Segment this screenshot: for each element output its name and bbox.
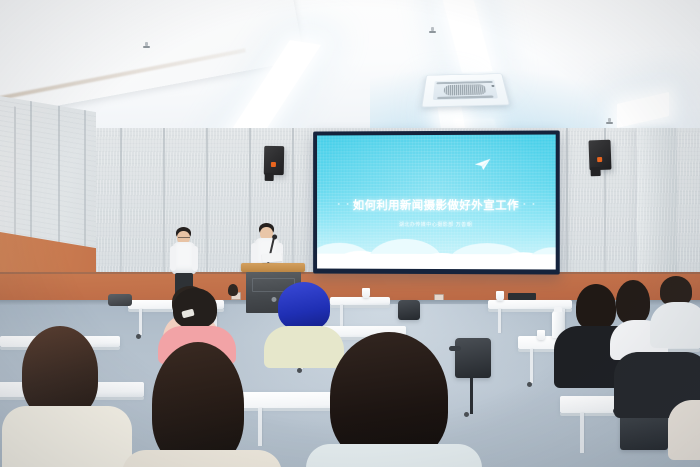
paper-cup bbox=[537, 330, 545, 340]
audience-shoulders bbox=[122, 450, 282, 467]
desk-leg bbox=[498, 309, 501, 333]
glasses-icon bbox=[178, 237, 190, 240]
jbl-logo-icon bbox=[271, 162, 276, 167]
audience-shoulders bbox=[650, 302, 700, 348]
audience-hair-blue bbox=[278, 282, 330, 330]
audience-hair bbox=[330, 332, 448, 462]
laptop bbox=[508, 293, 536, 300]
wall-speaker-right bbox=[588, 140, 611, 171]
audience-hair bbox=[228, 284, 238, 296]
ac-cassette-unit bbox=[421, 73, 510, 107]
jbl-logo-icon bbox=[597, 157, 602, 162]
chair-armrest bbox=[449, 346, 461, 351]
desk-edge bbox=[330, 305, 390, 308]
desk-caster bbox=[297, 368, 302, 373]
slide-cloud-graphic bbox=[317, 225, 556, 270]
desk-leg bbox=[580, 413, 584, 453]
handbag bbox=[108, 294, 132, 306]
sprinkler-head-icon bbox=[143, 42, 150, 50]
presenter-arm bbox=[192, 246, 198, 271]
paper-cup bbox=[496, 291, 504, 301]
projected-slide: 如何利用新闻摄影做好外宣工作 湖北办传媒中心摄影部 万善朝 bbox=[317, 134, 556, 269]
presenter-arm bbox=[251, 243, 257, 265]
audience-shoulders bbox=[668, 400, 700, 460]
desk-caster bbox=[527, 382, 532, 387]
chair bbox=[455, 338, 491, 378]
paper-plane-icon bbox=[474, 158, 491, 171]
audience-hair bbox=[616, 280, 650, 324]
desk-leg bbox=[340, 305, 343, 327]
chair-stem bbox=[470, 378, 473, 414]
audience-hair bbox=[173, 288, 217, 328]
speaker-bracket bbox=[590, 167, 600, 176]
wall-speaker-left bbox=[264, 146, 285, 175]
chair bbox=[398, 300, 420, 320]
ac-sensor-icon bbox=[491, 85, 494, 87]
audience-hair bbox=[576, 284, 616, 330]
speaker-bracket bbox=[265, 173, 274, 181]
sprinkler-head-icon bbox=[606, 118, 613, 126]
presenter-arm bbox=[170, 246, 176, 271]
audience-shoulders bbox=[264, 326, 344, 368]
thermos-cap bbox=[554, 307, 562, 312]
podium-knob bbox=[271, 297, 276, 302]
desk-leg bbox=[139, 309, 142, 335]
chair-caster bbox=[464, 412, 469, 417]
desk bbox=[330, 297, 390, 305]
classroom-photo: 如何利用新闻摄影做好外宣工作 湖北办传媒中心摄影部 万善朝 bbox=[0, 0, 700, 467]
desk-caster bbox=[136, 334, 141, 339]
slide-title: 如何利用新闻摄影做好外宣工作 bbox=[317, 197, 556, 213]
audience-hair bbox=[152, 342, 244, 467]
desk-leg bbox=[258, 408, 262, 446]
projection-screen: 如何利用新闻摄影做好外宣工作 湖北办传媒中心摄影部 万善朝 bbox=[313, 130, 560, 274]
paper-cup bbox=[362, 288, 370, 298]
cloud-base bbox=[317, 254, 556, 270]
audience-hair bbox=[22, 326, 98, 418]
podium-top bbox=[241, 263, 305, 272]
podium-papers bbox=[262, 252, 283, 262]
desk-leg bbox=[530, 349, 533, 383]
ac-grille bbox=[444, 84, 487, 96]
sprinkler-head-icon bbox=[429, 27, 436, 35]
audience-shoulders bbox=[306, 444, 482, 467]
audience-shoulders bbox=[2, 406, 132, 467]
